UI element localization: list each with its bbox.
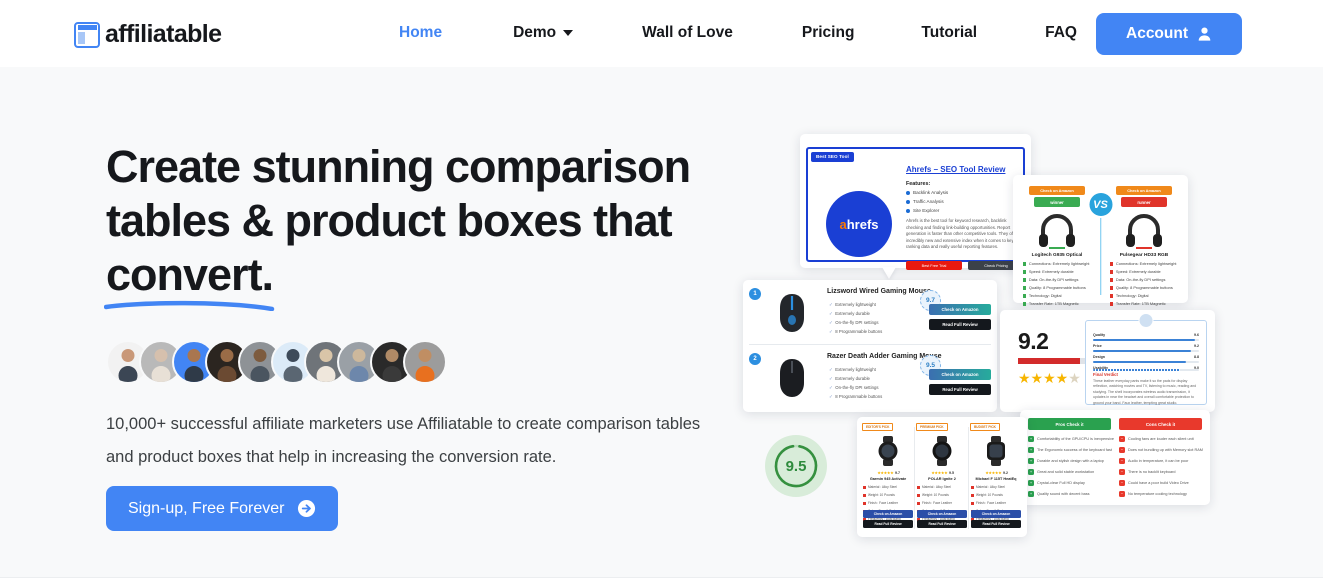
watch-review-button[interactable]: Read Full Review <box>863 520 913 528</box>
star-rating: ★★★★★ <box>1018 370 1081 387</box>
vs-left-feature: Technology: Digital <box>1023 293 1062 298</box>
avatar-group <box>106 340 436 384</box>
ahrefs-title: Ahrefs – SEO Tool Review <box>906 165 1005 174</box>
watch-review-button[interactable]: Read Full Review <box>917 520 967 528</box>
callout-tail <box>882 267 896 279</box>
pros-item: +Great and solid stable workstation <box>1028 469 1094 475</box>
nav-item-tutorial[interactable]: Tutorial <box>921 24 977 42</box>
vs-right-feature: Technology: Digital <box>1110 293 1149 298</box>
criteria-row: Price9.2 <box>1093 344 1199 348</box>
pros-header: Pros Check it <box>1028 418 1111 430</box>
ring-score-value: 9.5 <box>765 435 827 497</box>
watch-name: Garmin 945 Activate <box>862 477 914 481</box>
site-header: affiliatable Home Demo Wall of Love Pric… <box>0 0 1323 67</box>
product-feature: ✓Extremely lightweight <box>829 302 876 308</box>
watch-column: PREMIUM PICK ★★★★★9.5 POLAR Ignite 2 Mat… <box>916 423 968 531</box>
main-nav: Home Demo Wall of Love Pricing Tutorial … <box>399 24 1077 42</box>
pros-item: +The Ergonomic success of the keyboard f… <box>1028 447 1112 453</box>
watch-stars: ★★★★★9.2 <box>970 470 1022 475</box>
vs-left-feature: Speed: Extremely durable <box>1023 269 1074 274</box>
product-feature: ✓8 Programmable buttons <box>829 329 882 335</box>
vs-right-feature: Quality: 8 Programmable buttons <box>1110 285 1173 290</box>
ahrefs-paragraph: Ahrefs is the best tool for keyword rese… <box>906 218 1024 251</box>
nav-label-home: Home <box>399 24 442 42</box>
headphone-icon <box>1037 212 1077 248</box>
table-layout-icon <box>74 22 100 48</box>
logo[interactable]: affiliatable <box>74 20 221 49</box>
watch-feature: Finish : Face Leather <box>971 501 1006 505</box>
product-title: Lizsword Wired Gaming Mouse <box>827 288 931 295</box>
vs-runner-ribbon: runner <box>1121 197 1167 207</box>
rank-badge: 1 <box>749 288 761 300</box>
watch-ribbon: BUDGET PICK <box>970 423 1000 431</box>
rank-badge: 2 <box>749 353 761 365</box>
ranked-products-card: 1 Lizsword Wired Gaming Mouse ✓Extremely… <box>743 280 997 412</box>
cons-item: −Does not bundling up with Memory slot R… <box>1119 447 1203 453</box>
vs-right-button[interactable]: Check on Amazon <box>1116 186 1172 195</box>
watch-column: EDITOR'S PICK ★★★★★9.7 Garmin 945 Activa… <box>862 423 914 531</box>
product-feature: ✓Extremely lightweight <box>829 367 876 373</box>
vs-comparison-card: VS winner Logitech G935 Optical Connecti… <box>1013 175 1188 303</box>
score-ring-badge: 9.5 <box>765 435 827 497</box>
product-feature: ✓Extremely durable <box>829 311 870 317</box>
product-feature: ✓Extremely durable <box>829 376 870 382</box>
account-button[interactable]: Account <box>1096 13 1242 55</box>
ahrefs-feature-item: Traffic Analysis <box>906 199 944 204</box>
nav-label-pricing: Pricing <box>802 24 855 42</box>
headline-line-1: Create stunning comparison <box>106 141 690 192</box>
criteria-bar <box>1093 339 1199 341</box>
vs-left-name: Logitech G935 Optical <box>1021 253 1093 258</box>
watch-feature: Finish : Face Leather <box>917 501 952 505</box>
criteria-row: Design8.8 <box>1093 355 1199 359</box>
smartwatch-icon <box>928 436 956 466</box>
cons-header: Cons Check it <box>1119 418 1202 430</box>
best-seo-badge: Best SEO Tool <box>811 152 854 162</box>
vs-left-feature: Quality: 8 Programmable buttons <box>1023 285 1086 290</box>
watch-feature: Weight: 10 Pounds <box>971 493 1003 497</box>
signup-button[interactable]: Sign-up, Free Forever <box>106 486 338 531</box>
nav-item-pricing[interactable]: Pricing <box>802 24 855 42</box>
read-full-review-button[interactable]: Read Full Review <box>929 319 991 330</box>
mouse-icon <box>769 355 815 401</box>
ahrefs-review-card: Best SEO Tool ahrefs Ahrefs – SEO Tool R… <box>800 134 1031 268</box>
hero-illustration: Best SEO Tool ahrefs Ahrefs – SEO Tool R… <box>735 125 1245 545</box>
ahrefs-free-trial-button[interactable]: Best Free Trial <box>906 261 962 270</box>
nav-item-demo[interactable]: Demo <box>513 24 573 42</box>
logo-text: affiliatable <box>105 20 221 49</box>
divider <box>749 344 991 345</box>
criteria-row: Quality9.6 <box>1093 333 1199 337</box>
criteria-bar <box>1093 350 1199 352</box>
table-row: 1 Lizsword Wired Gaming Mouse ✓Extremely… <box>743 282 997 345</box>
ahrefs-feature-item: Backlink Analysis <box>906 190 948 195</box>
vs-right-feature: Speed: Extremely durable <box>1110 269 1161 274</box>
table-row: 2 Razer Death Adder Gaming Mouse ✓Extrem… <box>743 347 997 410</box>
nav-item-faq[interactable]: FAQ <box>1045 24 1077 42</box>
headline-line-2: tables & product boxes that <box>106 195 672 246</box>
vs-left-feature: Data: On-the-fly DPI settings <box>1023 277 1078 282</box>
score-verdict-card: 9.2 ★★★★★ Quality9.6 Price9.2 Design8.8 … <box>1000 310 1215 412</box>
criteria-bar <box>1093 361 1199 363</box>
nav-label-faq: FAQ <box>1045 24 1077 42</box>
watch-feature: Material : Alloy Steel <box>971 485 1005 489</box>
vs-winner-ribbon: winner <box>1034 197 1080 207</box>
watch-feature: Finish : Face Leather <box>863 501 898 505</box>
watch-name: POLAR Ignite 2 <box>916 477 968 481</box>
watch-review-button[interactable]: Read Full Review <box>971 520 1021 528</box>
vs-right-feature: Connections: Extremely lightweight <box>1110 261 1176 266</box>
ahrefs-feature-item: Site Explorer <box>906 208 939 213</box>
chevron-down-icon <box>563 30 573 36</box>
signup-label: Sign-up, Free Forever <box>128 500 285 518</box>
watch-ribbon: PREMIUM PICK <box>916 423 948 431</box>
pros-item: +Quality sound with decent bass <box>1028 491 1090 497</box>
pros-item: +Crystal-clear Full HD display <box>1028 480 1085 486</box>
smartwatch-icon <box>874 436 902 466</box>
pros-item: +Comfortability of the GPU/CPU is inexpe… <box>1028 436 1114 442</box>
vs-left-button[interactable]: Check on Amazon <box>1029 186 1085 195</box>
ahrefs-logo-icon: ahrefs <box>826 191 892 257</box>
product-feature: ✓On-the-fly DPI settings <box>829 320 879 326</box>
vs-left-feature: Transfer Rate: 1TB Magnetic <box>1023 301 1079 306</box>
product-feature: ✓8 Programmable buttons <box>829 394 882 400</box>
hero-text-block: Create stunning comparison tables & prod… <box>106 140 706 302</box>
headline-highlight-wrap: convert. <box>106 248 273 302</box>
nav-label-tutorial: Tutorial <box>921 24 977 42</box>
vs-right-feature: Data: On-the-fly DPI settings <box>1110 277 1165 282</box>
pros-item: +Durable and stylish design with a lapto… <box>1028 458 1104 464</box>
cons-item: −There is no backlit keyboard <box>1119 469 1176 475</box>
cons-item: −No temperature cooling technology <box>1119 491 1187 497</box>
cons-item: −Cooling fans are louder each silent uni… <box>1119 436 1194 442</box>
underline-stroke-icon <box>104 300 276 311</box>
score-progress-bar <box>1018 358 1090 364</box>
ahrefs-card-body: Best SEO Tool ahrefs Ahrefs – SEO Tool R… <box>806 147 1025 262</box>
watch-feature: Material : Alloy Steel <box>917 485 951 489</box>
page-title: Create stunning comparison tables & prod… <box>106 140 696 302</box>
vs-right-name: Pulsegear HD33 RGB <box>1108 253 1180 258</box>
read-full-review-button[interactable]: Read Full Review <box>929 384 991 395</box>
verdict-box: Quality9.6 Price9.2 Design8.8 Usability9… <box>1085 320 1207 405</box>
account-label: Account <box>1126 25 1188 43</box>
watch-amazon-button[interactable]: Check on Amazon <box>917 510 967 518</box>
check-on-amazon-button[interactable]: Check on Amazon <box>929 369 991 380</box>
watch-feature: Material : Alloy Steel <box>863 485 897 489</box>
watch-column: BUDGET PICK ★★★★★9.2 Michael F 115T Heat… <box>970 423 1022 531</box>
watch-comparison-card: EDITOR'S PICK ★★★★★9.7 Garmin 945 Activa… <box>857 417 1027 537</box>
vs-left-feature: Connections: Extremely lightweight <box>1023 261 1089 266</box>
verdict-title: Final Verdict <box>1093 372 1118 377</box>
vs-right-feature: Transfer Rate: 1TB Magnetic <box>1110 301 1166 306</box>
smartwatch-icon <box>982 436 1010 466</box>
nav-label-wall-of-love: Wall of Love <box>642 24 733 42</box>
verdict-text: These leather everyday pants make it so … <box>1093 379 1199 406</box>
watch-feature: Weight: 10 Pounds <box>917 493 949 497</box>
watch-stars: ★★★★★9.7 <box>862 470 914 475</box>
watch-feature: Weight: 10 Pounds <box>863 493 895 497</box>
criteria-bar <box>1093 369 1199 371</box>
pros-cons-card: Pros Check it Cons Check it +Comfortabil… <box>1020 410 1210 505</box>
cons-item: −Could have a poor build Video Drive <box>1119 480 1189 486</box>
watch-ribbon: EDITOR'S PICK <box>862 423 893 431</box>
avatar <box>1139 313 1154 328</box>
avatar <box>403 340 447 384</box>
cons-item: −Audio in temperature, it can be poor <box>1119 458 1188 464</box>
hero-subtitle: 10,000+ successful affiliate marketers u… <box>106 408 706 474</box>
headphone-icon <box>1124 212 1164 248</box>
watch-amazon-button[interactable]: Check on Amazon <box>863 510 913 518</box>
person-icon <box>1197 26 1212 42</box>
watch-amazon-button[interactable]: Check on Amazon <box>971 510 1021 518</box>
watch-name: Michael F 115T HeatEq <box>970 477 1022 481</box>
check-on-amazon-button[interactable]: Check on Amazon <box>929 304 991 315</box>
arrow-right-circle-icon <box>297 499 316 518</box>
nav-label-demo: Demo <box>513 24 556 42</box>
product-feature: ✓On-the-fly DPI settings <box>829 385 879 391</box>
mouse-icon <box>769 290 815 336</box>
nav-item-home[interactable]: Home <box>399 24 442 42</box>
watch-stars: ★★★★★9.5 <box>916 470 968 475</box>
nav-item-wall-of-love[interactable]: Wall of Love <box>642 24 733 42</box>
ahrefs-features-label: Features: <box>906 181 930 187</box>
headline-highlight: convert. <box>106 249 273 300</box>
overall-score: 9.2 <box>1018 328 1048 355</box>
vs-badge: VS <box>1087 191 1114 218</box>
